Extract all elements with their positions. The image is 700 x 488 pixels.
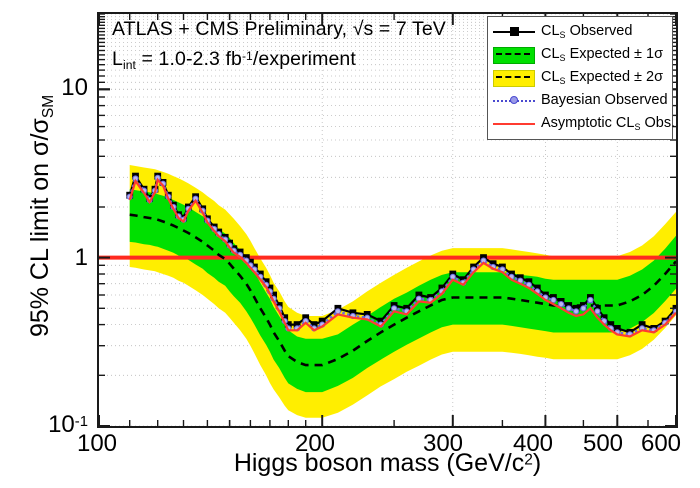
lumi-subscript: int: [123, 58, 136, 72]
legend-key-yellow-band-icon: [491, 68, 537, 88]
legend-key-bayesian-dotted-icon: [491, 91, 537, 111]
legend-item-asymptotic-observed[interactable]: Asymptotic CLS Obs.: [491, 112, 669, 135]
legend: CLS Observed CLS Expected ± 1σ CLS Expec…: [487, 16, 673, 140]
legend-key-green-band-icon: [491, 45, 537, 65]
legend-label-asymptotic-observed: Asymptotic CLS Obs.: [541, 116, 675, 132]
x-axis-label: Higgs boson mass (GeV/c2): [97, 449, 678, 478]
x-axis-label-suffix: ): [533, 449, 541, 477]
header-line-1: ATLAS + CMS Preliminary, √s = 7 TeV: [112, 18, 446, 41]
y-axis-label: 95% CL limit on σ/σSM: [26, 6, 58, 426]
legend-label-cls-expected-1sigma: CLS Expected ± 1σ: [541, 47, 663, 63]
figure-root: 95% CL limit on σ/σSM 10 1 10-1 100 200 …: [0, 0, 700, 488]
legend-label-cls-observed: CLS Observed: [541, 24, 632, 40]
legend-key-asymptotic-red-line-icon: [491, 114, 537, 134]
y-tick-label-1: 1: [22, 244, 88, 272]
legend-key-observed-line-icon: [491, 22, 537, 42]
y-axis-label-text: 95% CL limit on σ/σ: [26, 118, 54, 337]
x-axis-label-text: Higgs boson mass (GeV/c: [234, 449, 524, 477]
lumi-exponent: -1: [242, 49, 253, 63]
legend-label-cls-expected-2sigma: CLS Expected ± 2σ: [541, 70, 663, 86]
legend-item-bayesian-observed[interactable]: Bayesian Observed: [491, 89, 669, 112]
lumi-symbol: L: [112, 48, 123, 70]
lumi-suffix: /experiment: [253, 48, 356, 70]
x-axis-label-superscript: 2: [524, 452, 533, 469]
legend-item-cls-expected-2sigma[interactable]: CLS Expected ± 2σ: [491, 66, 669, 89]
legend-item-cls-expected-1sigma[interactable]: CLS Expected ± 1σ: [491, 43, 669, 66]
y-tick-label-10: 10: [22, 74, 88, 102]
legend-label-bayesian-observed: Bayesian Observed: [541, 93, 668, 108]
header-line-2: Lint = 1.0-2.3 fb-1/experiment: [112, 48, 356, 72]
lumi-value: = 1.0-2.3 fb: [136, 48, 242, 70]
legend-item-cls-observed[interactable]: CLS Observed: [491, 20, 669, 43]
